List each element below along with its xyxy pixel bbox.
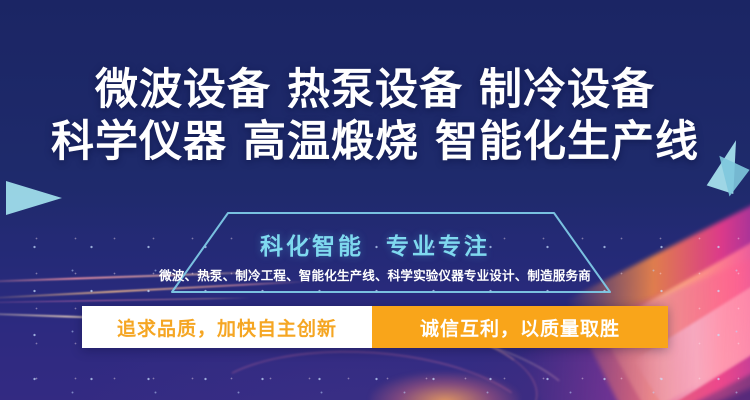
tagline-right: 诚信互利，以质量取胜 xyxy=(372,306,668,348)
banner-subcopy: 微波、热泵、制冷工程、智能化生产线、科学实验仪器专业设计、制造服务商 xyxy=(0,265,750,284)
slogan-part-1: 科化智能 xyxy=(260,233,364,259)
headline-word-3: 制冷设备 xyxy=(479,66,655,114)
triangle-left-icon xyxy=(6,181,62,215)
headline-line-1: 微波设备热泵设备制冷设备 xyxy=(0,64,750,116)
headline-word-1: 微波设备 xyxy=(95,66,271,114)
headline-word-4: 科学仪器 xyxy=(51,118,227,166)
banner-headline: 微波设备热泵设备制冷设备 科学仪器高温煅烧智能化生产线 xyxy=(0,64,750,168)
headline-line-2: 科学仪器高温煅烧智能化生产线 xyxy=(0,116,750,168)
headline-word-2: 热泵设备 xyxy=(287,66,463,114)
headline-word-6: 智能化生产线 xyxy=(435,118,699,166)
promo-banner: 微波设备热泵设备制冷设备 科学仪器高温煅烧智能化生产线 科化智能专业专注 微波、… xyxy=(0,0,750,400)
banner-slogan: 科化智能专业专注 xyxy=(0,227,750,261)
tagline-bar: 追求品质，加快自主创新 诚信互利，以质量取胜 xyxy=(82,306,668,348)
slogan-part-2: 专业专注 xyxy=(386,233,490,259)
headline-word-5: 高温煅烧 xyxy=(243,118,419,166)
tagline-left: 追求品质，加快自主创新 xyxy=(82,306,372,348)
